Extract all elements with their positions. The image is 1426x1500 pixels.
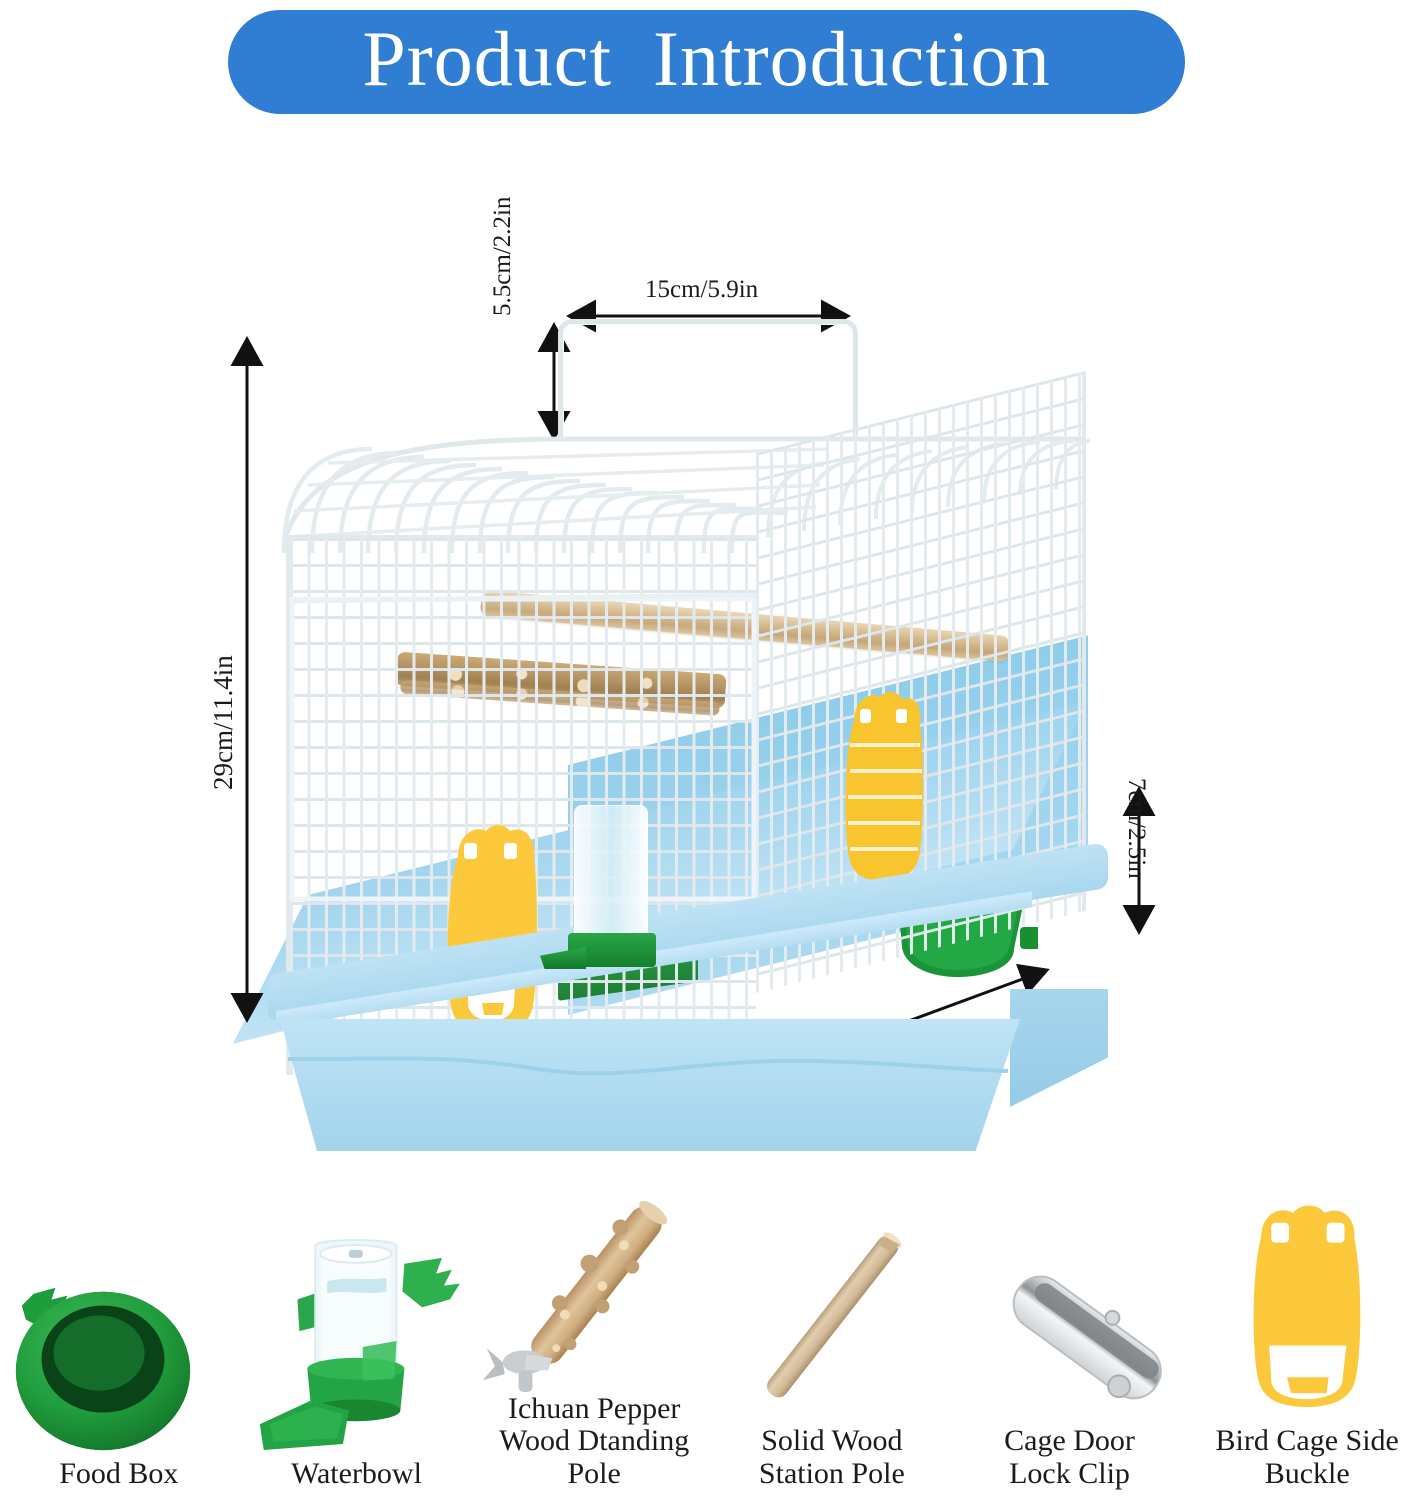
accessory-label: Solid Wood Station Pole	[759, 1425, 905, 1500]
accessory-label: Waterbowl	[291, 1458, 422, 1500]
bird-cage-illustration	[268, 335, 1108, 1135]
accessory-pepper-pole[interactable]: Ichuan Pepper Wood Dtanding Pole	[475, 1165, 713, 1500]
accessory-label: Bird Cage Side Buckle	[1216, 1425, 1399, 1500]
tray-side-panel	[1010, 989, 1108, 1107]
water-bottle	[568, 805, 656, 995]
accessory-label: Food Box	[59, 1458, 178, 1500]
water-bottle-body	[574, 805, 648, 945]
accessory-solid-wood-pole[interactable]: Solid Wood Station Pole	[713, 1165, 951, 1500]
dimension-label-handle-width: 15cm/5.9in	[645, 276, 758, 304]
side-buckle-rear-yellow	[840, 685, 926, 885]
accessory-label: Ichuan Pepper Wood Dtanding Pole	[475, 1393, 713, 1500]
cage-handle	[558, 319, 858, 439]
side-buckle-art	[1188, 1190, 1426, 1425]
accessories-row: Food Box	[0, 1165, 1426, 1500]
dimension-label-cage-height: 29cm/11.4in	[208, 655, 239, 790]
dimension-label-tray-height: 7cm/2.5in	[1122, 778, 1150, 879]
pepper-pole-art	[475, 1165, 713, 1393]
accessory-lock-clip[interactable]: Cage Door Lock Clip	[951, 1165, 1189, 1500]
title-banner: Product Introduction	[228, 10, 1185, 114]
tray-wave-groove	[288, 1053, 1008, 1079]
product-diagram: 15cm/5.9in 5.5cm/2.2in 29cm/11.4in 7cm/2…	[0, 120, 1426, 1160]
cage-base-tray	[268, 975, 1108, 1150]
tray-front-panel	[280, 1019, 1020, 1151]
water-bottle-icon	[238, 1229, 476, 1457]
green-food-bowl-icon	[0, 1275, 238, 1455]
accessory-waterbowl[interactable]: Waterbowl	[238, 1165, 476, 1500]
solid-wood-pole-art	[713, 1190, 951, 1425]
solid-wood-dowel-icon	[713, 1212, 951, 1422]
dimension-label-handle-height: 5.5cm/2.2in	[489, 197, 517, 316]
page-title: Product Introduction	[362, 20, 1050, 104]
accessory-side-buckle[interactable]: Bird Cage Side Buckle	[1188, 1165, 1426, 1500]
pepper-wood-pole-icon	[475, 1175, 713, 1400]
metal-lock-clip-icon	[951, 1242, 1189, 1412]
lock-clip-art	[951, 1190, 1189, 1425]
accessory-label: Cage Door Lock Clip	[1004, 1425, 1135, 1500]
waterbowl-art	[238, 1223, 476, 1458]
accessory-food-box[interactable]: Food Box	[0, 1165, 238, 1500]
food-box-art	[0, 1223, 238, 1458]
yellow-bear-buckle-icon	[1188, 1198, 1426, 1413]
